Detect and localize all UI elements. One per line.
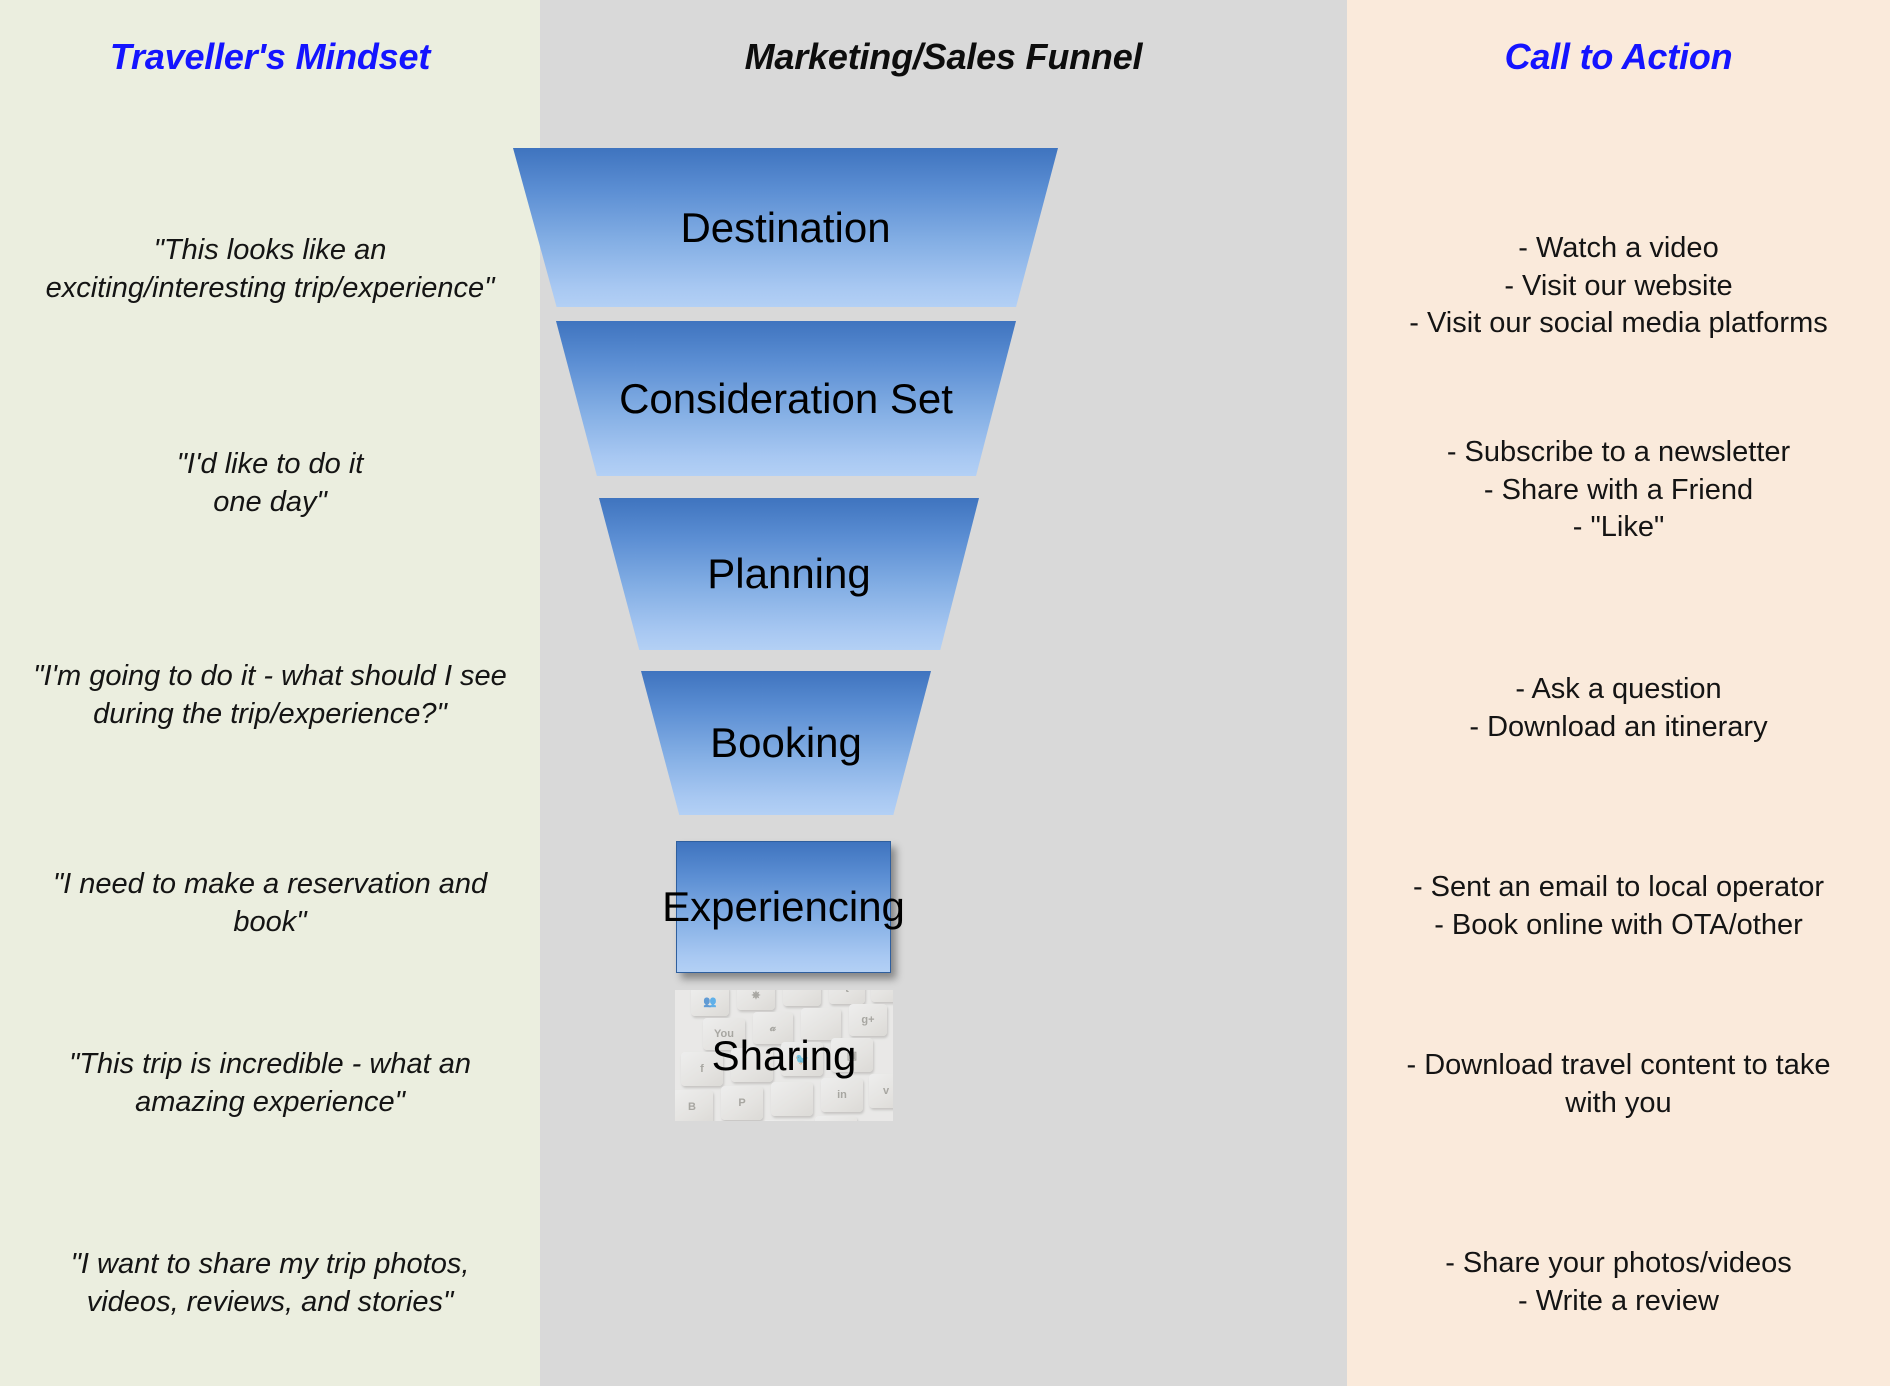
cta-line: - "Like" [1357, 509, 1880, 547]
funnel-stage-sharing[interactable]: 👥 ✵ t You 𝒶 g+ f 🐦 ▣ B P in v ◑ ●● Shari… [675, 990, 893, 1121]
column-header-travellers-mindset: Traveller's Mindset [0, 36, 540, 78]
cta-line: - Write a review [1357, 1283, 1880, 1321]
funnel-stage-consideration-set[interactable]: Consideration Set [556, 321, 1016, 476]
mindset-block-3: "I'm going to do it - what should I see … [14, 658, 526, 733]
column-header-call-to-action: Call to Action [1347, 36, 1890, 78]
cta-block-4: - Sent an email to local operator - Book… [1357, 869, 1880, 944]
funnel-stage-label: Sharing [712, 1035, 857, 1077]
mindset-block-6: "I want to share my trip photos, videos,… [14, 1246, 526, 1321]
funnel-diagram-canvas: Traveller's Mindset "This looks like an … [0, 0, 1890, 1386]
column-header-marketing-sales-funnel: Marketing/Sales Funnel [540, 36, 1347, 78]
cta-line: - Share with a Friend [1357, 472, 1880, 510]
cta-line: - Visit our website [1357, 268, 1880, 306]
cta-line: - Ask a question [1357, 671, 1880, 709]
mindset-line: "I'd like to do it [14, 446, 526, 484]
funnel-stage-booking[interactable]: Booking [641, 671, 931, 815]
funnel-stage-experiencing[interactable]: Experiencing [676, 841, 891, 973]
cta-line: - Visit our social media platforms [1357, 305, 1880, 343]
mindset-block-5: "This trip is incredible - what an amazi… [14, 1046, 526, 1121]
column-travellers-mindset: Traveller's Mindset "This looks like an … [0, 0, 540, 1386]
mindset-line: "I'm going to do it - what should I see [14, 658, 526, 696]
mindset-block-1: "This looks like an exciting/interesting… [14, 232, 526, 307]
cta-line: - Download an itinerary [1357, 709, 1880, 747]
mindset-line: "This trip is incredible - what an [14, 1046, 526, 1084]
cta-line: - Share your photos/videos [1357, 1245, 1880, 1283]
column-call-to-action: Call to Action - Watch a video - Visit o… [1347, 0, 1890, 1386]
cta-line: - Download travel content to take [1357, 1047, 1880, 1085]
mindset-line: videos, reviews, and stories" [14, 1284, 526, 1322]
funnel-stage-destination[interactable]: Destination [513, 148, 1058, 307]
cta-block-2: - Subscribe to a newsletter - Share with… [1357, 434, 1880, 547]
mindset-line: one day" [14, 484, 526, 522]
cta-line: - Book online with OTA/other [1357, 907, 1880, 945]
cta-line: - Sent an email to local operator [1357, 869, 1880, 907]
cta-block-1: - Watch a video - Visit our website - Vi… [1357, 230, 1880, 343]
cta-line: with you [1357, 1085, 1880, 1123]
mindset-block-2: "I'd like to do it one day" [14, 446, 526, 521]
mindset-line: amazing experience" [14, 1084, 526, 1122]
funnel-stage-label: Booking [710, 722, 862, 764]
cta-block-5: - Download travel content to take with y… [1357, 1047, 1880, 1122]
mindset-line: "I need to make a reservation and [14, 866, 526, 904]
mindset-line: exciting/interesting trip/experience" [14, 270, 526, 308]
funnel-stage-label: Destination [680, 207, 890, 249]
funnel-stage-label: Experiencing [662, 886, 905, 928]
mindset-line: "This looks like an [14, 232, 526, 270]
mindset-block-4: "I need to make a reservation and book" [14, 866, 526, 941]
funnel-stage-planning[interactable]: Planning [599, 498, 979, 650]
funnel-stage-label: Planning [707, 553, 870, 595]
mindset-line: book" [14, 904, 526, 942]
cta-line: - Watch a video [1357, 230, 1880, 268]
cta-line: - Subscribe to a newsletter [1357, 434, 1880, 472]
cta-block-3: - Ask a question - Download an itinerary [1357, 671, 1880, 746]
cta-block-6: - Share your photos/videos - Write a rev… [1357, 1245, 1880, 1320]
mindset-line: "I want to share my trip photos, [14, 1246, 526, 1284]
funnel-stage-label: Consideration Set [619, 378, 953, 420]
mindset-line: during the trip/experience?" [14, 696, 526, 734]
